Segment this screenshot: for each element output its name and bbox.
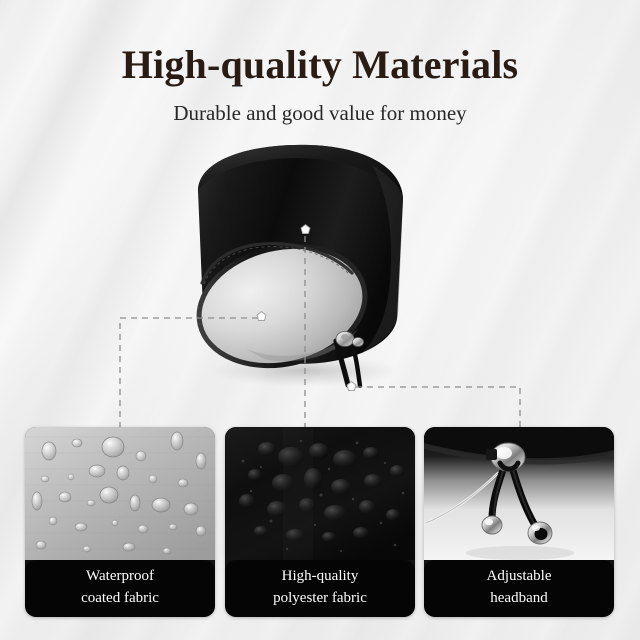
feature-card-waterproof[interactable]: Waterproof coated fabric	[25, 427, 215, 617]
page-title: High-quality Materials	[0, 0, 640, 86]
caption-line: Adjustable	[487, 566, 552, 587]
caption-headband: Adjustable headband	[424, 560, 614, 617]
caption-polyester: High-quality polyester fabric	[225, 560, 415, 617]
caption-line: High-quality	[282, 566, 359, 587]
caption-line: Waterproof	[86, 566, 154, 587]
caption-waterproof: Waterproof coated fabric	[25, 560, 215, 617]
caption-line: polyester fabric	[273, 588, 367, 609]
product-hero-image	[186, 143, 416, 388]
header: High-quality Materials Durable and good …	[0, 0, 640, 125]
callout-marker-lining[interactable]	[255, 311, 268, 324]
adjustable-headband-photo	[424, 427, 614, 560]
caption-line: coated fabric	[81, 588, 159, 609]
infographic-page: High-quality Materials Durable and good …	[0, 0, 640, 640]
caption-line: headband	[490, 588, 547, 609]
callout-marker-shell[interactable]	[299, 224, 312, 237]
page-subtitle: Durable and good value for money	[0, 86, 640, 125]
callout-marker-cord-lock[interactable]	[345, 381, 358, 394]
feature-card-polyester[interactable]: High-quality polyester fabric	[225, 427, 415, 617]
feature-card-headband[interactable]: Adjustable headband	[424, 427, 614, 617]
waterproof-coated-fabric-photo	[25, 427, 215, 560]
high-quality-polyester-fabric-photo	[225, 427, 415, 560]
